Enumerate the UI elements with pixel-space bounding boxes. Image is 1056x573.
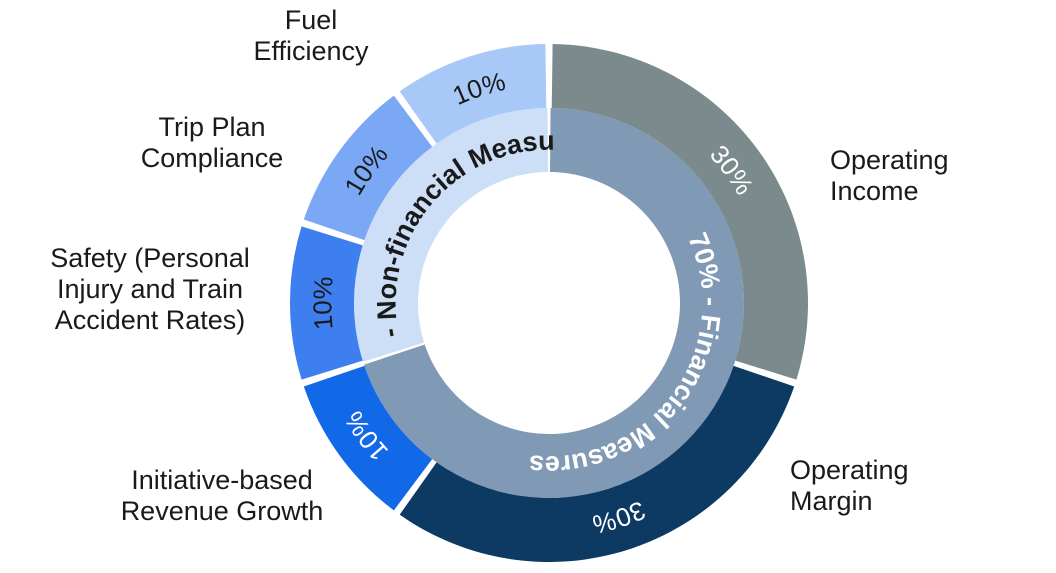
inner-ring-group [354,108,744,498]
callout-fuel-efficiency: Fuel Efficiency [201,5,421,67]
callout-safety: Safety (Personal Injury and Train Accide… [10,243,290,335]
callout-operating-margin: Operating Margin [790,455,1030,517]
callout-initiative-revenue-growth: Initiative-based Revenue Growth [82,465,362,527]
donut-chart-canvas: 70% - Financial Measures30% - Non-financ… [0,0,1056,573]
arc-label: 10% [307,275,339,331]
callout-operating-income: Operating Income [830,145,1056,207]
callout-trip-plan-compliance: Trip Plan Compliance [102,112,322,174]
